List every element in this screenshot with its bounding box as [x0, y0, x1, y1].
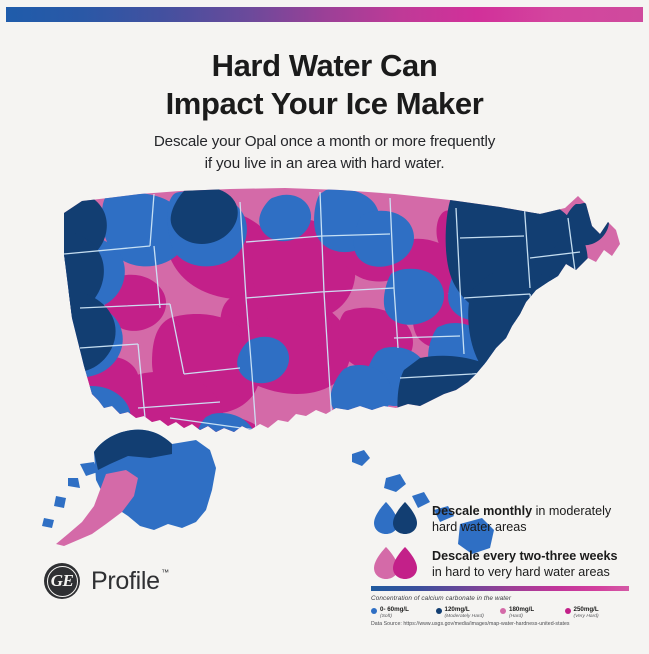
legend-swatch-soft-icon	[371, 608, 377, 614]
legend-sub-very-hard: (Very Hard)	[574, 613, 599, 620]
trademark-symbol: ™	[161, 568, 169, 577]
concentration-legend-items: 0- 60mg/L (Soft) 120mg/L (Moderately Har…	[371, 606, 629, 620]
descale-bold-hard: Descale every two-three weeks	[432, 549, 618, 563]
ge-monogram-icon: GE	[44, 563, 80, 599]
legend-sub-soft: (Soft)	[380, 613, 409, 620]
legend-swatch-hard-icon	[500, 608, 506, 614]
top-gradient-bar	[6, 7, 643, 22]
legend-swatch-moderately-hard-icon	[436, 608, 442, 614]
legend-item-moderately-hard: 120mg/L (Moderately Hard)	[436, 606, 501, 620]
legend-label-very-hard: 250mg/L	[574, 606, 599, 613]
legend-item-hard: 180mg/L (Hard)	[500, 606, 565, 620]
page-subtitle-line2: if you live in an area with hard water.	[0, 153, 649, 175]
page-title-line2: Impact Your Ice Maker	[0, 85, 649, 123]
descale-text-hard: Descale every two-three weeks in hard to…	[432, 545, 618, 580]
legend-swatch-very-hard-icon	[565, 608, 571, 614]
water-drop-pair-pink-icon	[372, 545, 422, 581]
infographic-root: Hard Water Can Impact Your Ice Maker Des…	[0, 0, 649, 654]
legend-label-hard: 180mg/L	[509, 606, 534, 613]
concentration-legend: Concentration of calcium carbonate in th…	[371, 586, 629, 620]
legend-label-moderately-hard: 120mg/L	[445, 606, 484, 613]
descale-bold-moderate: Descale monthly	[432, 504, 532, 518]
legend-sub-hard: (Hard)	[509, 613, 534, 620]
brand-wordmark: Profile™	[91, 567, 160, 596]
page-subtitle: Descale your Opal once a month or more f…	[0, 131, 649, 175]
concentration-caption: Concentration of calcium carbonate in th…	[371, 595, 629, 602]
descale-line2-moderate: hard water areas	[432, 519, 611, 535]
water-drop-pair-blue-icon	[372, 500, 422, 536]
legend-label-soft: 0- 60mg/L	[380, 606, 409, 613]
descale-rest-moderate: in moderately	[532, 504, 611, 518]
descale-text-moderate: Descale monthly in moderately hard water…	[432, 500, 611, 535]
map-alaska	[42, 430, 216, 546]
brand-wordmark-text: Profile	[91, 567, 160, 595]
data-source-line: Data Source: https://www.usgs.gov/media/…	[371, 621, 570, 627]
legend-item-soft: 0- 60mg/L (Soft)	[371, 606, 436, 620]
ge-profile-logo: GE Profile™	[44, 563, 160, 599]
descale-line2-hard: in hard to very hard water areas	[432, 564, 618, 580]
legend-item-very-hard: 250mg/L (Very Hard)	[565, 606, 630, 620]
descale-row-hard: Descale every two-three weeks in hard to…	[372, 545, 618, 581]
page-subtitle-line1: Descale your Opal once a month or more f…	[154, 133, 495, 150]
ge-monogram-text: GE	[51, 571, 74, 591]
descale-row-moderate: Descale monthly in moderately hard water…	[372, 500, 611, 536]
legend-sub-moderately-hard: (Moderately Hard)	[445, 613, 484, 620]
page-title-line1: Hard Water Can	[212, 48, 438, 83]
page-title: Hard Water Can Impact Your Ice Maker	[0, 47, 649, 123]
concentration-gradient-bar	[371, 586, 629, 591]
